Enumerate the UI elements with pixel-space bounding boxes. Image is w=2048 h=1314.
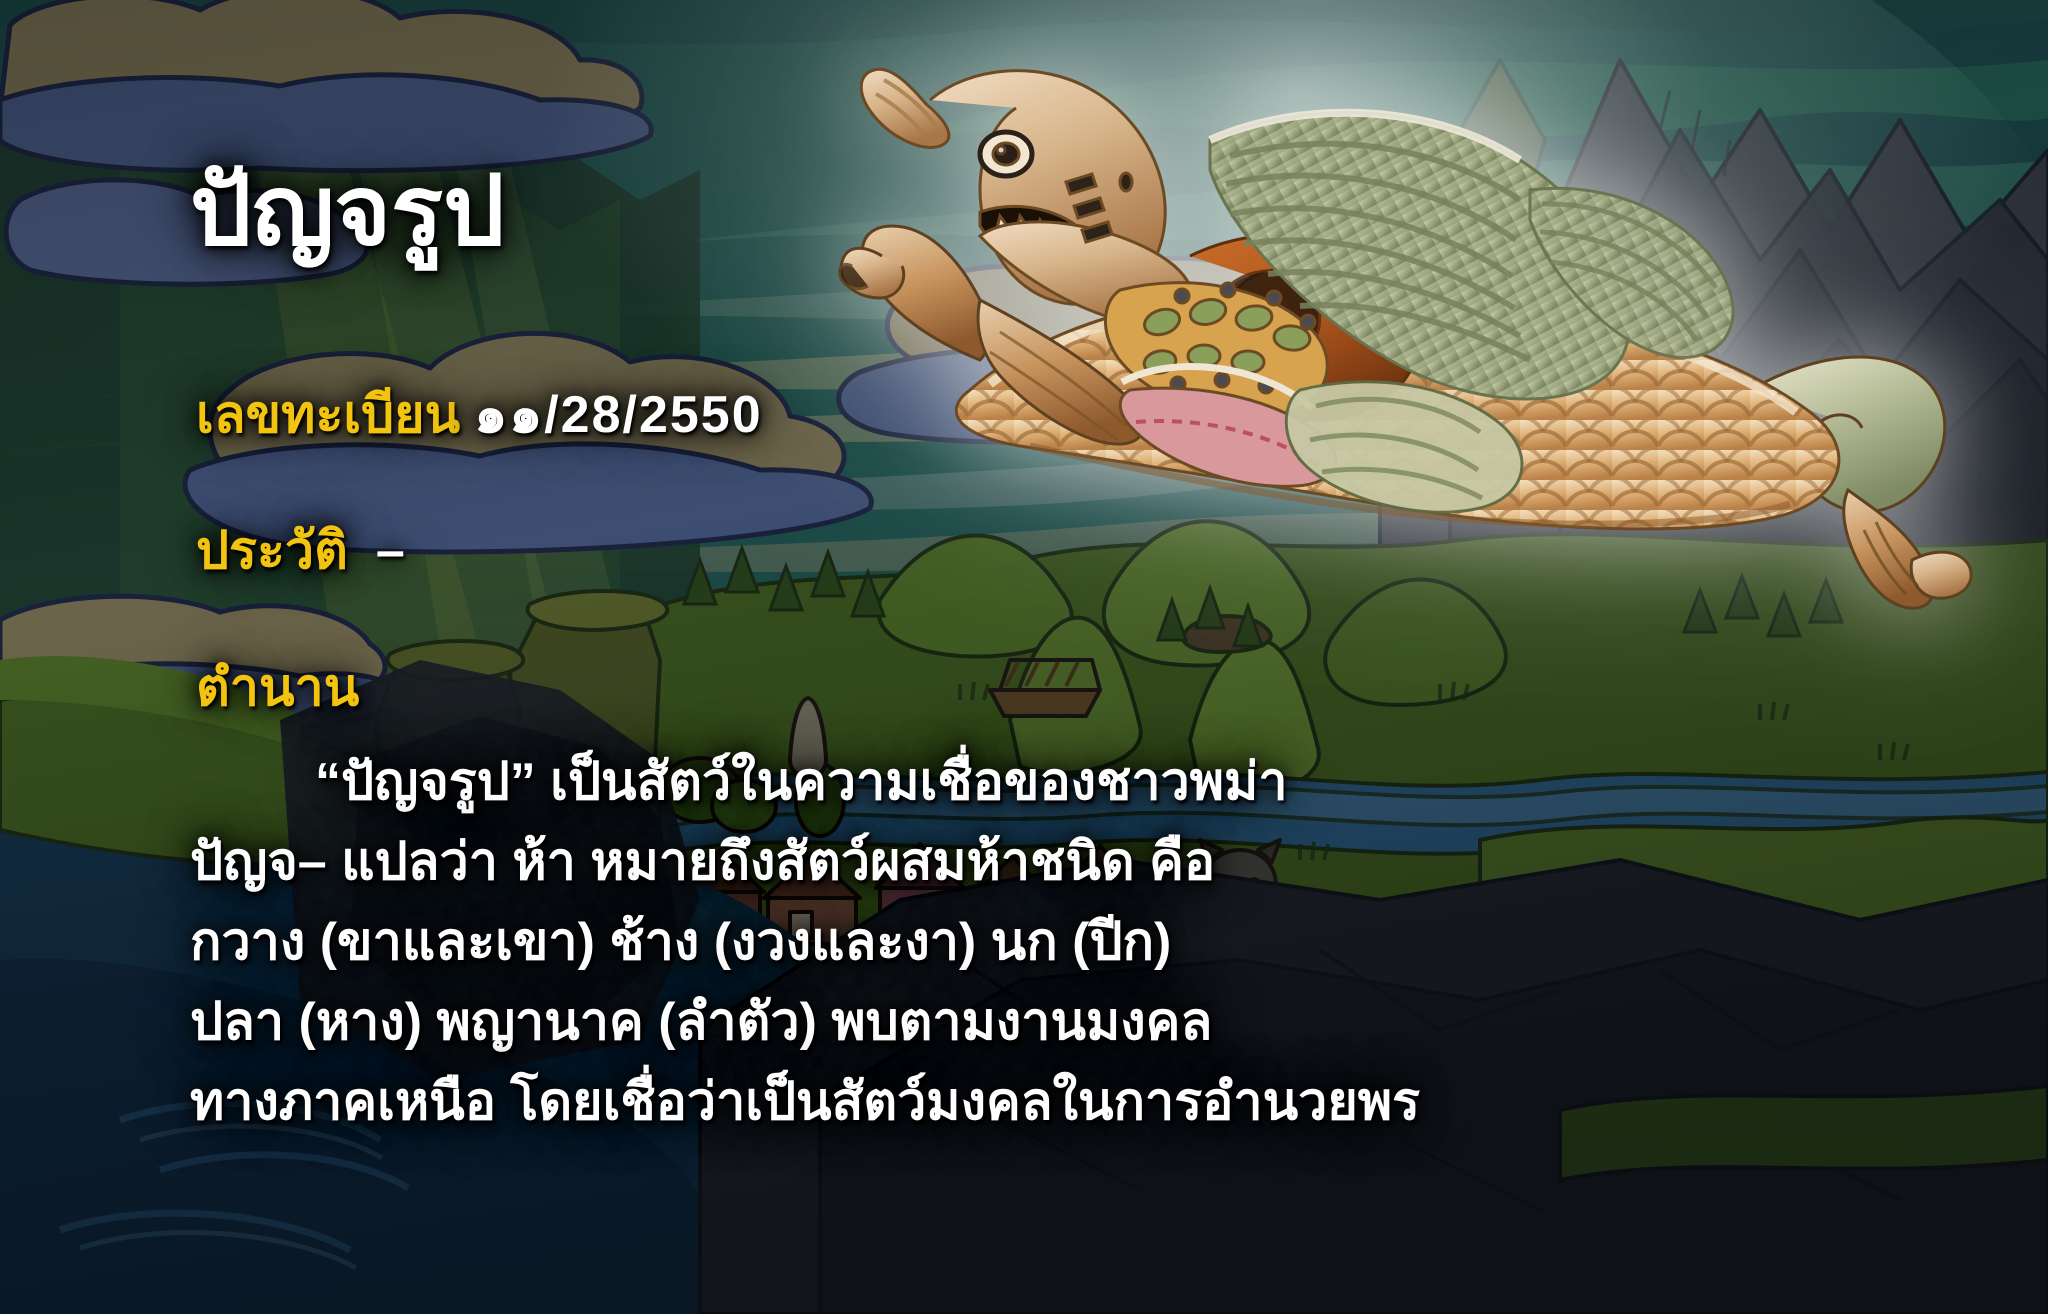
history-line: ประวัติ– [196,508,405,591]
legend-label: ตำนาน [196,645,359,728]
history-label: ประวัติ [196,522,348,580]
page-title: ปัญจรูป [190,160,505,262]
legend-line-5: ทางภาคเหนือ โดยเชื่อว่าเป็นสัตว์มงคลในกา… [190,1062,1750,1142]
legend-line-1: “ปัญจรูป” เป็นสัตว์ในความเชื่อของชาวพม่า [190,742,1750,822]
history-value: – [376,522,405,580]
registration-value: ๑๑/28/2550 [474,386,762,444]
legend-line-3: กวาง (ขาและเขา) ช้าง (งวงและงา) นก (ปีก) [190,902,1750,982]
registration-line: เลขทะเบียน๑๑/28/2550 [196,372,763,455]
legend-line-4: ปลา (หาง) พญานาค (ลำตัว) พบตามงานมงคล [190,982,1750,1062]
registration-label: เลขทะเบียน [196,386,460,444]
legend-line-2: ปัญจ– แปลว่า ห้า หมายถึงสัตว์ผสมห้าชนิด … [190,822,1750,902]
legend-body: “ปัญจรูป” เป็นสัตว์ในความเชื่อของชาวพม่า… [190,742,1750,1142]
poster-canvas: ปัญจรูป เลขทะเบียน๑๑/28/2550 ประวัติ– ตำ… [0,0,2048,1314]
text-overlay: ปัญจรูป เลขทะเบียน๑๑/28/2550 ประวัติ– ตำ… [0,0,2048,1314]
